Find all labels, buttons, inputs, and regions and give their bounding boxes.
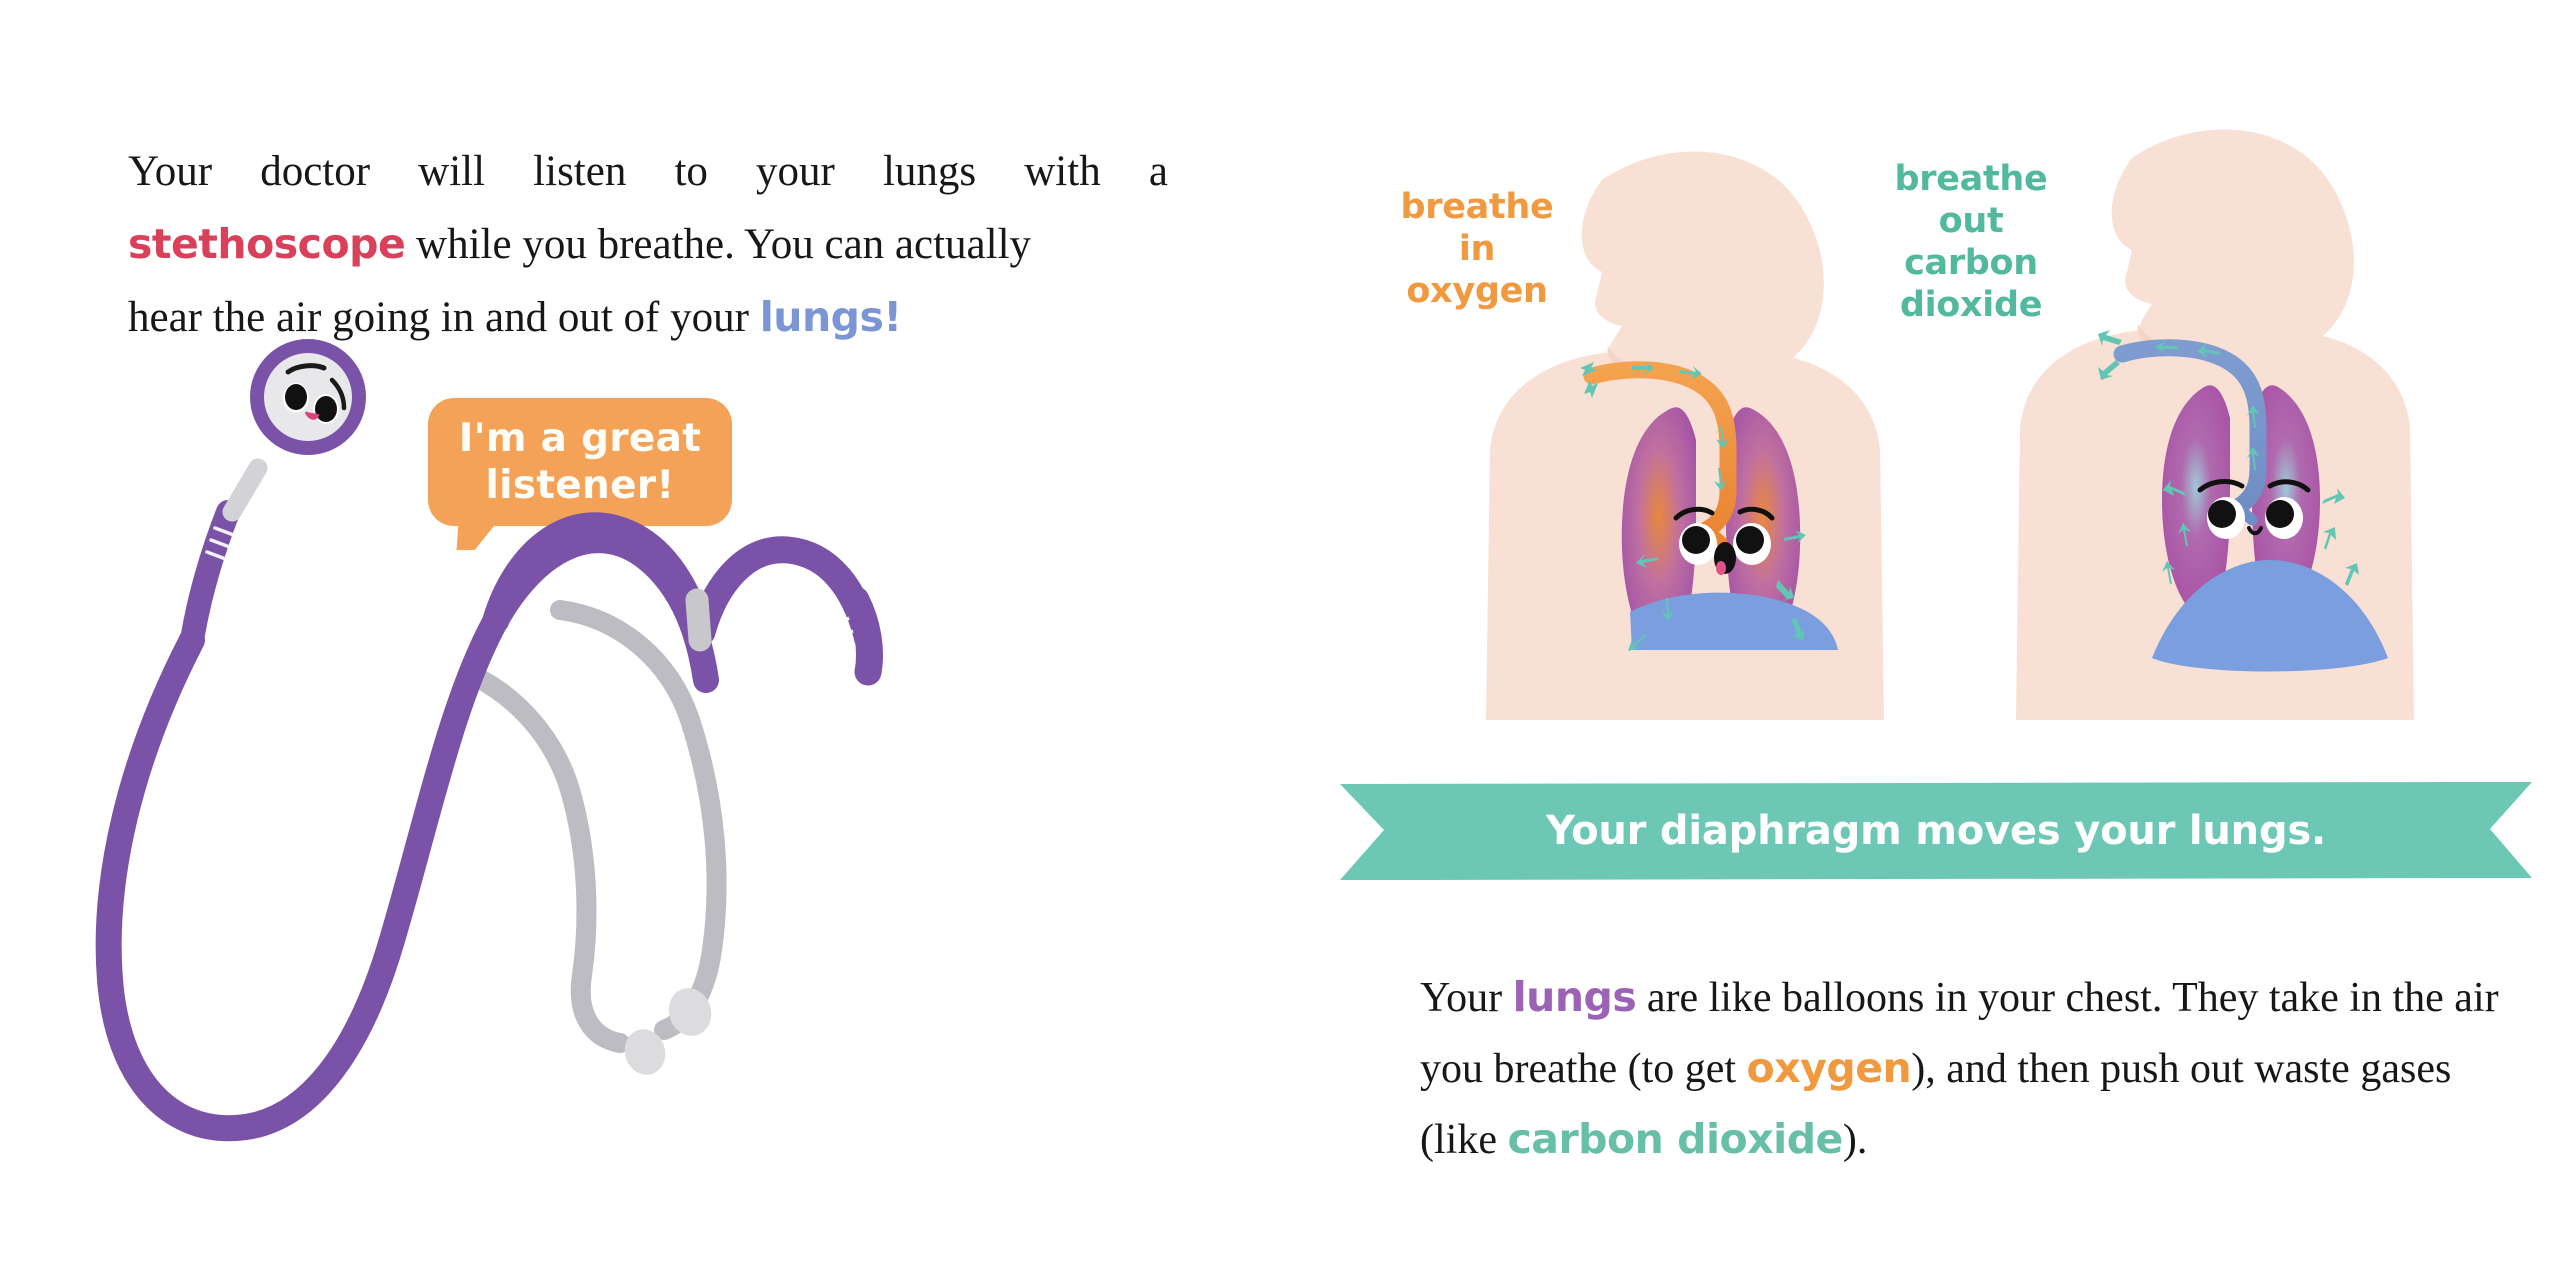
right-seg-2: are like balloons in your chest. They ta… (1636, 975, 2339, 1021)
label-breathe-out-carbon-dioxide: breathe out carbon dioxide (1868, 158, 2074, 326)
inhale-head (1582, 152, 1824, 382)
inhale-eye-left (1682, 526, 1710, 554)
label-breathe-in-oxygen: breathe in oxygen (1372, 186, 1582, 312)
chestpiece-eye-left (285, 384, 307, 410)
left-page: Your doctor will listen to your lungs wi… (0, 0, 1280, 1280)
stethoscope-stem-connector (232, 468, 258, 512)
right-seg-6: ). (1843, 1117, 1868, 1163)
right-seg-1: Your (1420, 975, 1513, 1021)
exhale-head (2112, 130, 2354, 360)
exhale-eye-left (2208, 500, 2236, 528)
stethoscope-chestpiece (250, 339, 366, 455)
exhale-eye-right (2266, 500, 2294, 528)
stethoscope-collar (697, 600, 700, 640)
right-body-paragraph: Your lungs are like balloons in your che… (1420, 962, 2520, 1175)
stethoscope-cap-right (856, 600, 870, 672)
inhale-tongue (1716, 561, 1726, 575)
stethoscope-purple-tubing (109, 512, 868, 1128)
stethoscope-ear-tubes (478, 610, 717, 1080)
inhale-eye-right (1736, 526, 1764, 554)
chestpiece-eye-right (315, 396, 337, 422)
banner-text: Your diaphragm moves your lungs. (1340, 782, 2532, 880)
keyword-oxygen: oxygen (1747, 1044, 1912, 1092)
keyword-carbon-dioxide: carbon dioxide (1507, 1115, 1842, 1163)
right-seg-4: ), and then push (1911, 1046, 2179, 1092)
figure-exhale (2016, 130, 2414, 720)
stethoscope-illustration (0, 0, 1280, 1280)
keyword-lungs-purple: lungs (1513, 973, 1637, 1021)
